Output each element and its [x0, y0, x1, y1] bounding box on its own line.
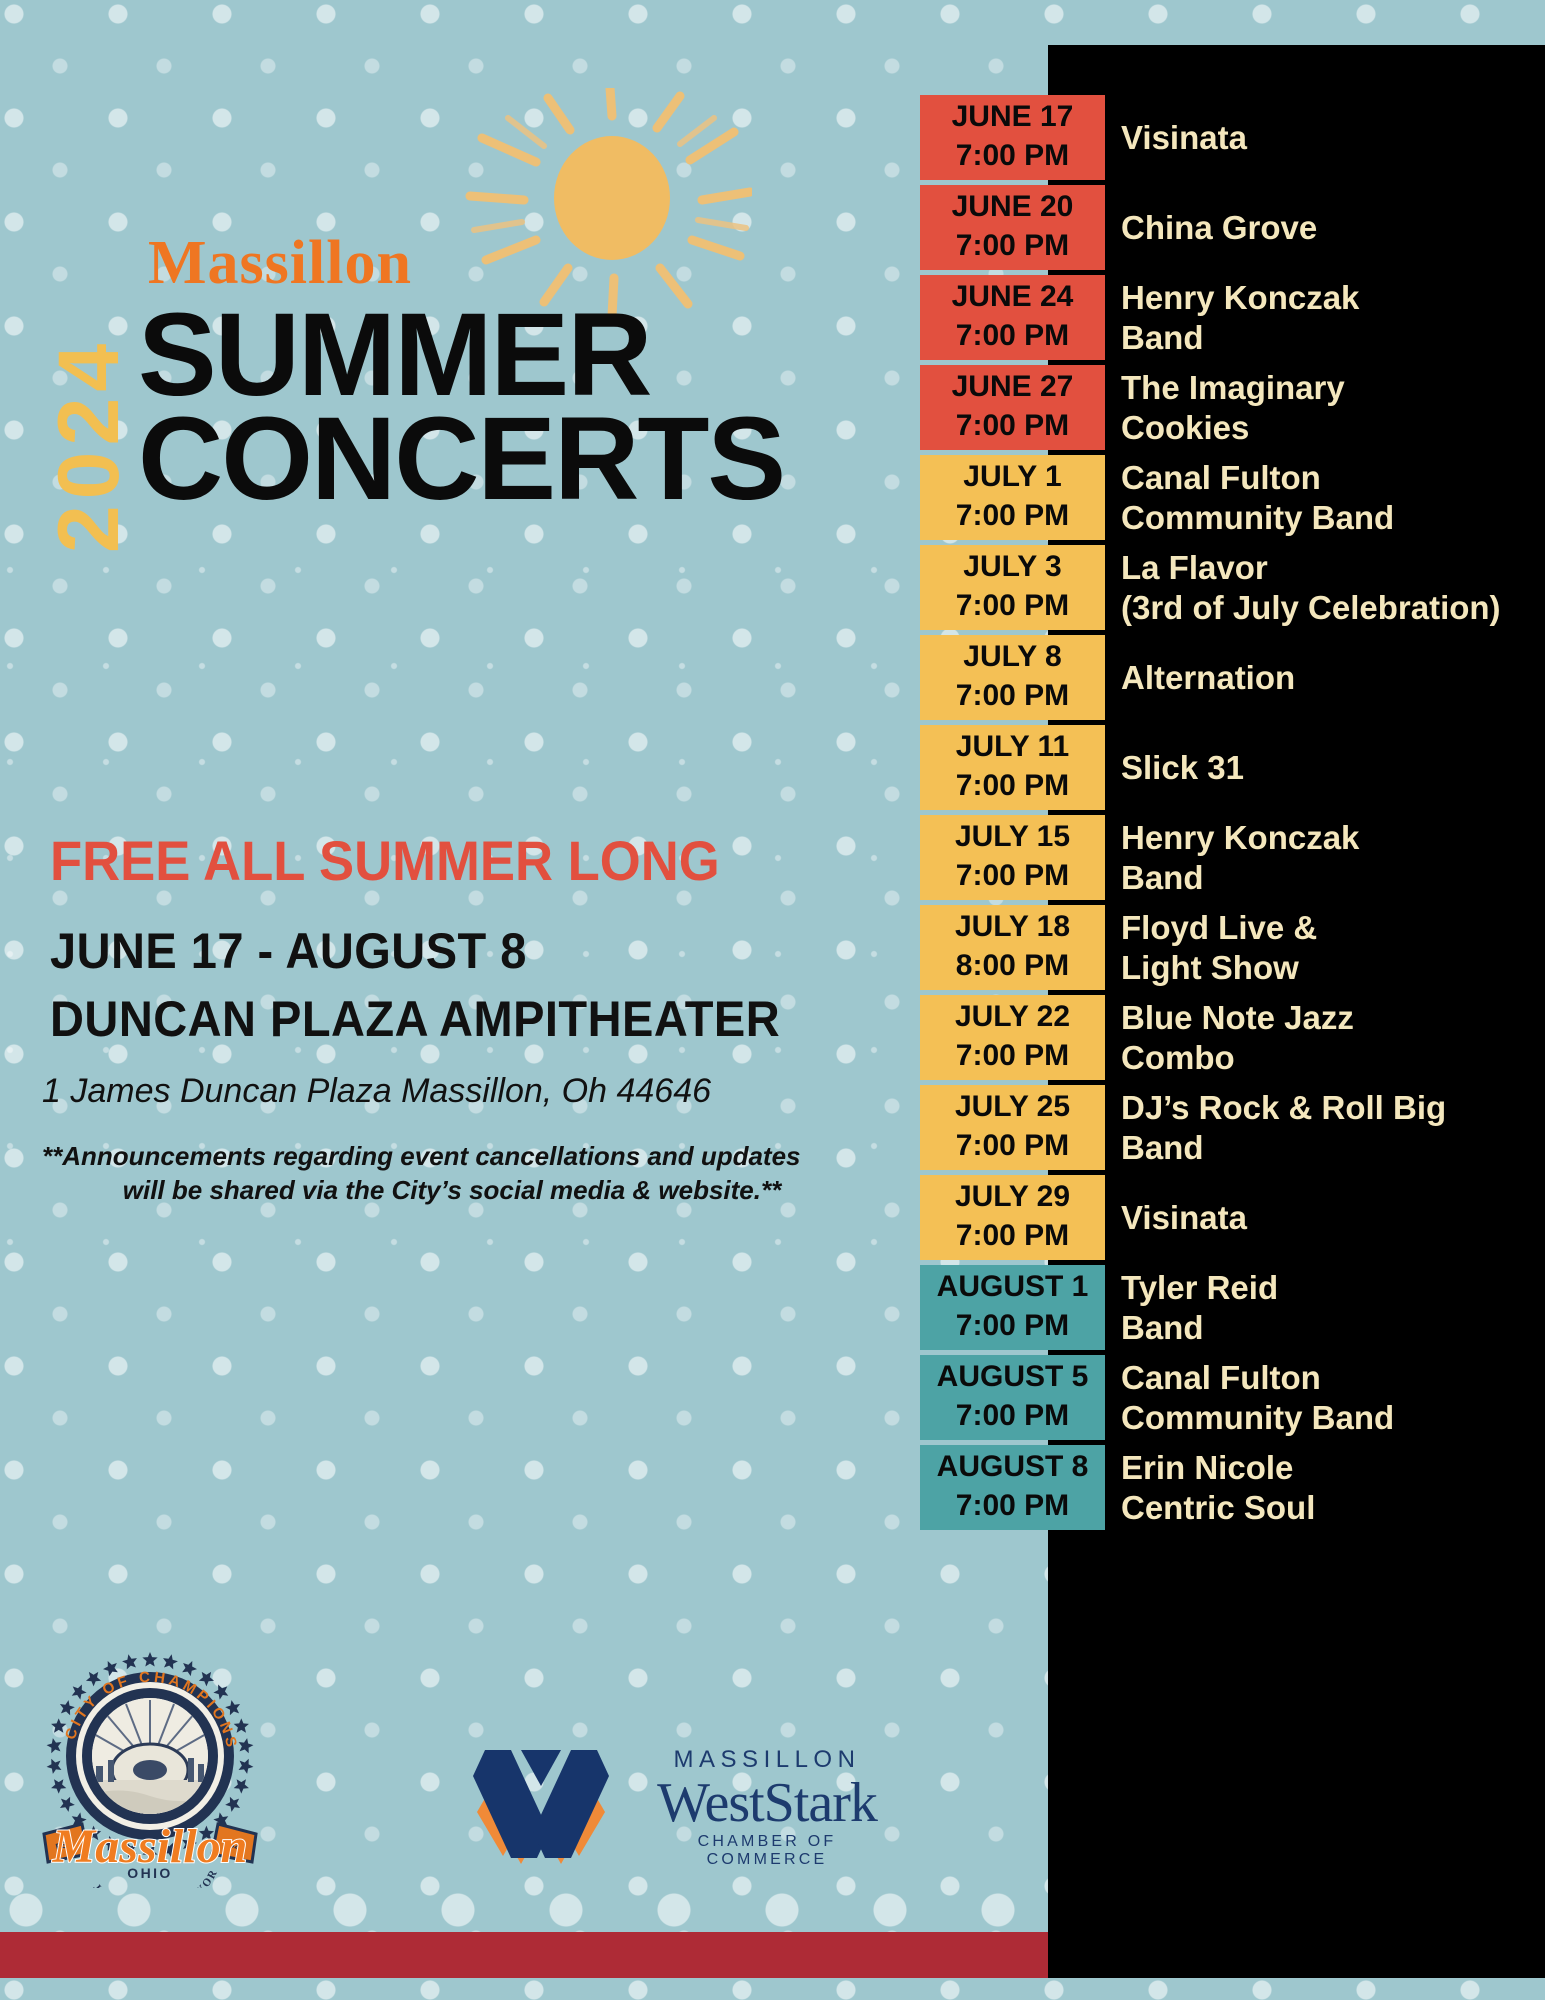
date-time-badge: AUGUST 87:00 PM	[920, 1445, 1105, 1530]
schedule-row: AUGUST 57:00 PMCanal FultonCommunity Ban…	[920, 1355, 1545, 1440]
band-name-line: Slick 31	[1121, 748, 1244, 788]
date-time-badge: JULY 117:00 PM	[920, 725, 1105, 810]
band-name-line: Visinata	[1121, 1198, 1247, 1238]
date-time-badge: JULY 188:00 PM	[920, 905, 1105, 990]
event-time: 7:00 PM	[934, 227, 1091, 265]
band-name-line: La Flavor	[1121, 548, 1501, 588]
date-time-badge: JULY 297:00 PM	[920, 1175, 1105, 1260]
band-name: Tyler ReidBand	[1105, 1265, 1278, 1350]
event-time: 8:00 PM	[934, 947, 1091, 985]
band-name-line: The Imaginary	[1121, 368, 1345, 408]
event-time: 7:00 PM	[934, 587, 1091, 625]
event-date: JUNE 20	[934, 188, 1091, 226]
band-name-line: DJ’s Rock & Roll Big	[1121, 1088, 1446, 1128]
band-name-line: Cookies	[1121, 408, 1345, 448]
band-name-line: Band	[1121, 1308, 1278, 1348]
band-name: Visinata	[1105, 1175, 1247, 1260]
date-time-badge: AUGUST 57:00 PM	[920, 1355, 1105, 1440]
schedule-row: JULY 157:00 PMHenry KonczakBand	[920, 815, 1545, 900]
date-time-badge: JUNE 247:00 PM	[920, 275, 1105, 360]
date-time-badge: JULY 257:00 PM	[920, 1085, 1105, 1170]
band-name: Henry KonczakBand	[1105, 815, 1359, 900]
band-name-line: Tyler Reid	[1121, 1268, 1278, 1308]
date-time-badge: JULY 17:00 PM	[920, 455, 1105, 540]
schedule-row: AUGUST 87:00 PMErin NicoleCentric Soul	[920, 1445, 1545, 1530]
event-date: JULY 1	[934, 458, 1091, 496]
band-name: DJ’s Rock & Roll BigBand	[1105, 1085, 1446, 1170]
schedule-row: JULY 188:00 PMFloyd Live &Light Show	[920, 905, 1545, 990]
band-name-line: Combo	[1121, 1038, 1354, 1078]
band-name-line: Light Show	[1121, 948, 1317, 988]
date-time-badge: JULY 227:00 PM	[920, 995, 1105, 1080]
schedule-row: JULY 17:00 PMCanal FultonCommunity Band	[920, 455, 1545, 540]
schedule-row: JUNE 177:00 PMVisinata	[920, 95, 1545, 180]
event-date: JULY 8	[934, 638, 1091, 676]
event-date: JUNE 17	[934, 98, 1091, 136]
band-name: Canal FultonCommunity Band	[1105, 1355, 1394, 1440]
event-date: AUGUST 5	[934, 1358, 1091, 1396]
event-time: 7:00 PM	[934, 857, 1091, 895]
event-time: 7:00 PM	[934, 1307, 1091, 1345]
concert-poster: 2024	[0, 0, 1545, 2000]
band-name-line: (3rd of July Celebration)	[1121, 588, 1501, 628]
event-date: JULY 25	[934, 1088, 1091, 1126]
band-name-line: Alternation	[1121, 658, 1295, 698]
event-date: JUNE 24	[934, 278, 1091, 316]
band-name-line: Floyd Live &	[1121, 908, 1317, 948]
schedule-row: JULY 227:00 PMBlue Note JazzCombo	[920, 995, 1545, 1080]
band-name: China Grove	[1105, 185, 1317, 270]
band-name: Erin NicoleCentric Soul	[1105, 1445, 1315, 1530]
date-time-badge: JUNE 207:00 PM	[920, 185, 1105, 270]
band-name-line: Band	[1121, 1128, 1446, 1168]
event-date: JULY 11	[934, 728, 1091, 766]
band-name-line: Erin Nicole	[1121, 1448, 1315, 1488]
band-name: The ImaginaryCookies	[1105, 365, 1345, 450]
date-time-badge: JULY 87:00 PM	[920, 635, 1105, 720]
schedule-row: JUNE 247:00 PMHenry KonczakBand	[920, 275, 1545, 360]
event-date: JULY 3	[934, 548, 1091, 586]
date-time-badge: JUNE 177:00 PM	[920, 95, 1105, 180]
event-time: 7:00 PM	[934, 677, 1091, 715]
band-name-line: Community Band	[1121, 1398, 1394, 1438]
date-time-badge: JULY 157:00 PM	[920, 815, 1105, 900]
event-time: 7:00 PM	[934, 1037, 1091, 1075]
schedule-row: JULY 297:00 PMVisinata	[920, 1175, 1545, 1260]
event-time: 7:00 PM	[934, 1487, 1091, 1525]
band-name-line: Blue Note Jazz	[1121, 998, 1354, 1038]
band-name-line: Henry Konczak	[1121, 278, 1359, 318]
band-name-line: Band	[1121, 858, 1359, 898]
band-name: Floyd Live &Light Show	[1105, 905, 1317, 990]
concert-schedule-list: JUNE 177:00 PMVisinataJUNE 207:00 PMChin…	[0, 0, 1545, 2000]
event-time: 7:00 PM	[934, 767, 1091, 805]
band-name-line: Band	[1121, 318, 1359, 358]
band-name-line: Henry Konczak	[1121, 818, 1359, 858]
date-time-badge: JULY 37:00 PM	[920, 545, 1105, 630]
schedule-row: JUNE 277:00 PMThe ImaginaryCookies	[920, 365, 1545, 450]
band-name: La Flavor(3rd of July Celebration)	[1105, 545, 1501, 630]
band-name: Slick 31	[1105, 725, 1244, 810]
event-date: JULY 29	[934, 1178, 1091, 1216]
event-time: 7:00 PM	[934, 497, 1091, 535]
event-time: 7:00 PM	[934, 407, 1091, 445]
schedule-row: JULY 117:00 PMSlick 31	[920, 725, 1545, 810]
event-time: 7:00 PM	[934, 1397, 1091, 1435]
event-date: JUNE 27	[934, 368, 1091, 406]
band-name-line: Centric Soul	[1121, 1488, 1315, 1528]
event-date: JULY 22	[934, 998, 1091, 1036]
schedule-row: JULY 257:00 PMDJ’s Rock & Roll BigBand	[920, 1085, 1545, 1170]
band-name: Alternation	[1105, 635, 1295, 720]
event-time: 7:00 PM	[934, 1127, 1091, 1165]
date-time-badge: AUGUST 17:00 PM	[920, 1265, 1105, 1350]
event-time: 7:00 PM	[934, 137, 1091, 175]
band-name: Blue Note JazzCombo	[1105, 995, 1354, 1080]
schedule-row: JULY 37:00 PMLa Flavor(3rd of July Celeb…	[920, 545, 1545, 630]
band-name-line: Canal Fulton	[1121, 458, 1394, 498]
event-time: 7:00 PM	[934, 1217, 1091, 1255]
date-time-badge: JUNE 277:00 PM	[920, 365, 1105, 450]
event-date: AUGUST 1	[934, 1268, 1091, 1306]
band-name-line: Canal Fulton	[1121, 1358, 1394, 1398]
event-date: JULY 15	[934, 818, 1091, 856]
event-date: JULY 18	[934, 908, 1091, 946]
band-name: Visinata	[1105, 95, 1247, 180]
event-time: 7:00 PM	[934, 317, 1091, 355]
schedule-row: JUNE 207:00 PMChina Grove	[920, 185, 1545, 270]
schedule-row: AUGUST 17:00 PMTyler ReidBand	[920, 1265, 1545, 1350]
event-date: AUGUST 8	[934, 1448, 1091, 1486]
schedule-row: JULY 87:00 PMAlternation	[920, 635, 1545, 720]
band-name: Henry KonczakBand	[1105, 275, 1359, 360]
band-name-line: Visinata	[1121, 118, 1247, 158]
band-name-line: Community Band	[1121, 498, 1394, 538]
band-name-line: China Grove	[1121, 208, 1317, 248]
band-name: Canal FultonCommunity Band	[1105, 455, 1394, 540]
